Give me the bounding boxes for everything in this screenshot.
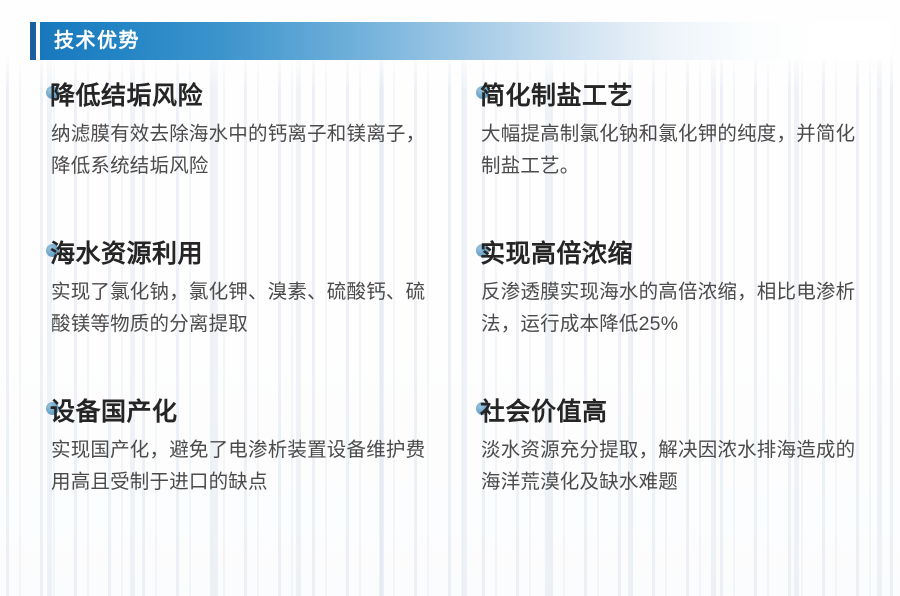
feature-description: 反渗透膜实现海水的高倍浓缩，相比电渗析法，运行成本降低25% <box>474 277 873 340</box>
feature-item-4: 实现高倍浓缩 反渗透膜实现海水的高倍浓缩，相比电渗析法，运行成本降低25% <box>474 240 900 398</box>
feature-grid: 降低结垢风险 纳滤膜有效去除海水中的钙离子和镁离子，降低系统结垢风险 简化制盐工… <box>0 82 900 596</box>
feature-title: 实现高倍浓缩 <box>474 240 886 268</box>
section-header-banner: 技术优势 <box>30 22 890 60</box>
feature-item-5: 设备国产化 实现国产化，避免了电渗析装置设备维护费用高且受制于进口的缺点 <box>44 398 474 596</box>
feature-title: 设备国产化 <box>44 398 456 426</box>
feature-item-1: 降低结垢风险 纳滤膜有效去除海水中的钙离子和镁离子，降低系统结垢风险 <box>44 82 474 240</box>
feature-description: 纳滤膜有效去除海水中的钙离子和镁离子，降低系统结垢风险 <box>44 119 443 182</box>
feature-title: 降低结垢风险 <box>44 82 456 110</box>
page-title: 技术优势 <box>40 31 140 51</box>
feature-item-2: 简化制盐工艺 大幅提高制氯化钠和氯化钾的纯度，并简化制盐工艺。 <box>474 82 900 240</box>
slide-root: 技术优势 降低结垢风险 纳滤膜有效去除海水中的钙离子和镁离子，降低系统结垢风险 … <box>0 0 900 596</box>
feature-description: 大幅提高制氯化钠和氯化钾的纯度，并简化制盐工艺。 <box>474 119 873 182</box>
feature-item-6: 社会价值高 淡水资源充分提取，解决因浓水排海造成的海洋荒漠化及缺水难题 <box>474 398 900 596</box>
feature-title: 社会价值高 <box>474 398 886 426</box>
feature-description: 实现了氯化钠，氯化钾、溴素、硫酸钙、硫酸镁等物质的分离提取 <box>44 277 443 340</box>
feature-title: 海水资源利用 <box>44 240 456 268</box>
feature-description: 实现国产化，避免了电渗析装置设备维护费用高且受制于进口的缺点 <box>44 435 443 498</box>
feature-item-3: 海水资源利用 实现了氯化钠，氯化钾、溴素、硫酸钙、硫酸镁等物质的分离提取 <box>44 240 474 398</box>
feature-title: 简化制盐工艺 <box>474 82 886 110</box>
feature-description: 淡水资源充分提取，解决因浓水排海造成的海洋荒漠化及缺水难题 <box>474 435 873 498</box>
header-gradient-band: 技术优势 <box>40 22 890 60</box>
